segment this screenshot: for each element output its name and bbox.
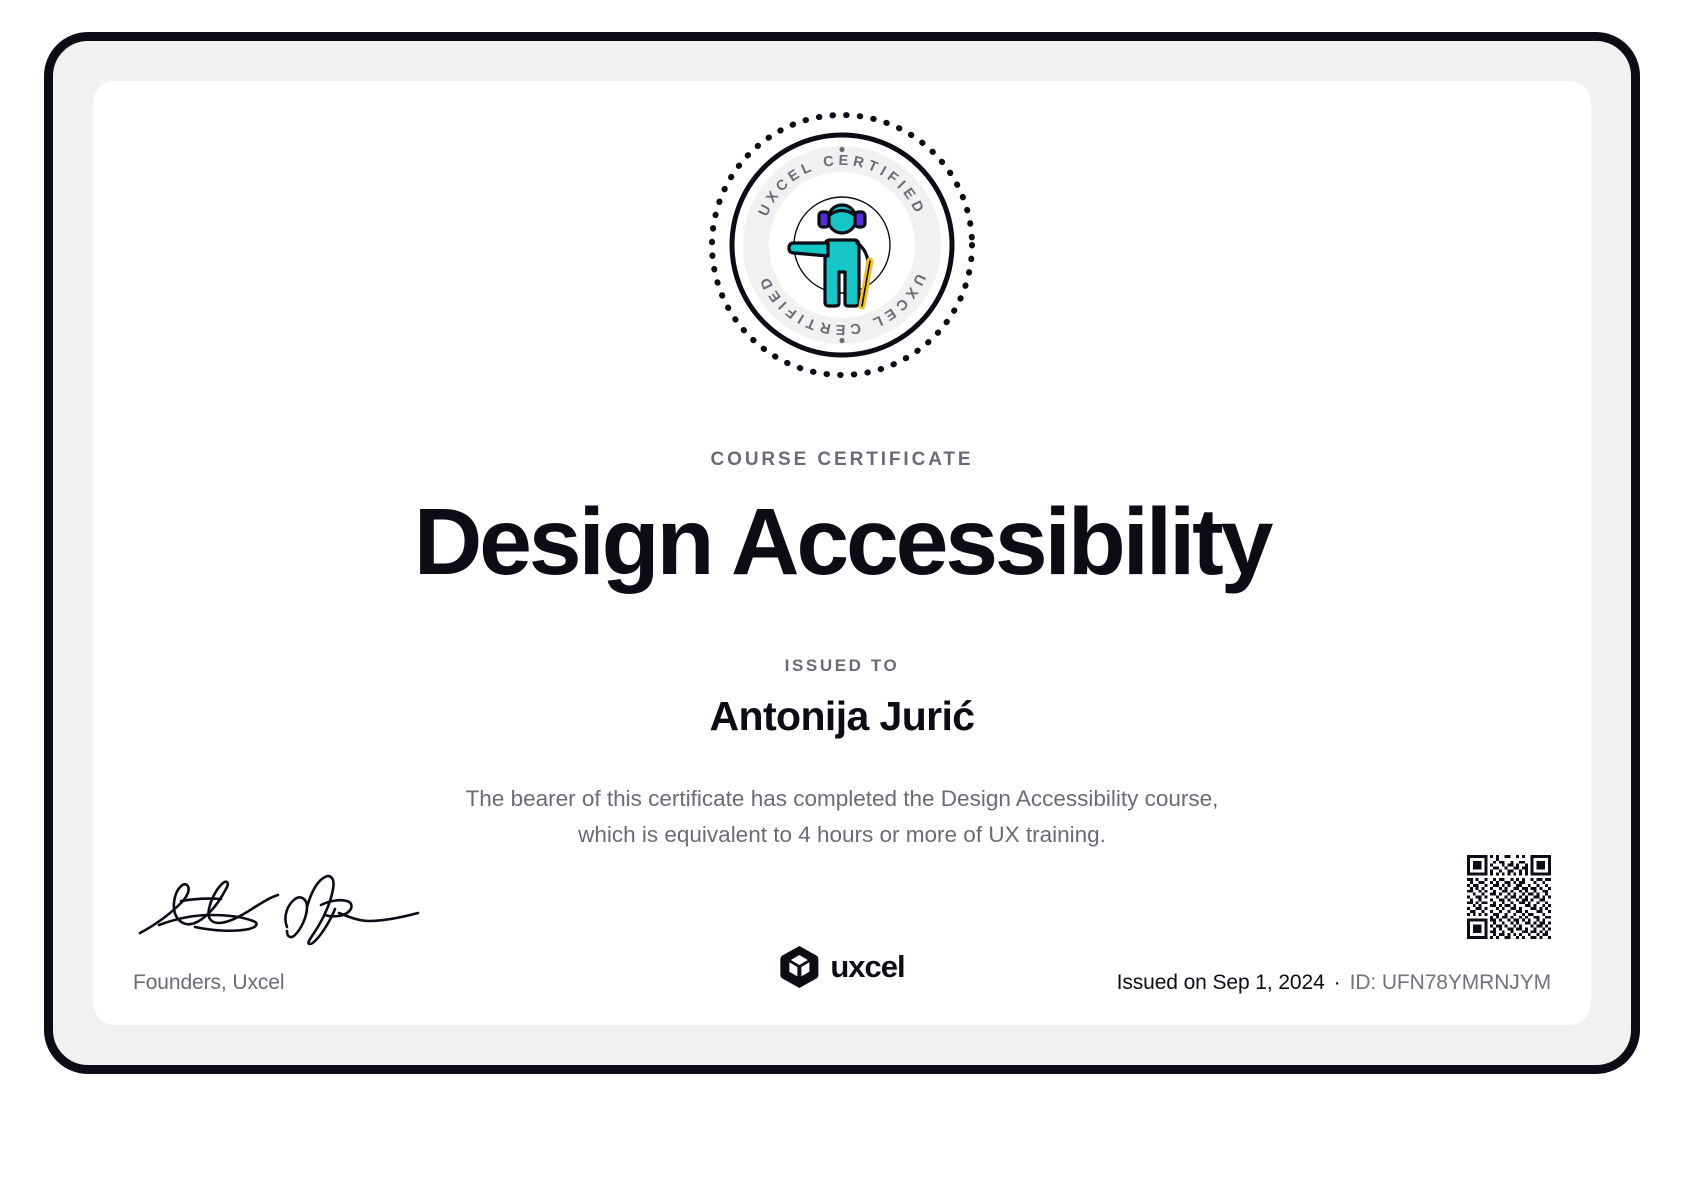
uxcel-brand-logo: uxcel [779, 945, 904, 989]
certificate-frame: UXCEL CERTIFIED UXCEL CERTIFIED [44, 32, 1640, 1074]
uxcel-wordmark: uxcel [830, 949, 904, 985]
certificate-meta-line: Issued on Sep 1, 2024·ID: UFN78YMRNJYM [1117, 971, 1551, 995]
certificate-eyebrow: COURSE CERTIFICATE [93, 449, 1591, 471]
description-line-2: which is equivalent to 4 hours or more o… [402, 817, 1282, 853]
issued-on-date: Issued on Sep 1, 2024 [1117, 971, 1325, 994]
certificate-title: Design Accessibility [93, 489, 1591, 595]
signature-block: Founders, Uxcel [133, 871, 473, 995]
meta-separator: · [1325, 971, 1350, 994]
founder-signatures-image [135, 871, 425, 951]
certificate-card: UXCEL CERTIFIED UXCEL CERTIFIED [93, 81, 1591, 1025]
signature-caption: Founders, Uxcel [133, 971, 473, 995]
recipient-name: Antonija Jurić [93, 693, 1591, 740]
qr-code[interactable] [1467, 855, 1551, 939]
certificate-description: The bearer of this certificate has compl… [402, 781, 1282, 854]
uxcel-cube-icon [779, 945, 819, 989]
issued-to-label: ISSUED TO [93, 656, 1591, 676]
uxcel-certified-seal: UXCEL CERTIFIED UXCEL CERTIFIED [706, 109, 978, 381]
certificate-id: ID: UFN78YMRNJYM [1350, 971, 1551, 994]
description-line-1: The bearer of this certificate has compl… [402, 781, 1282, 817]
certificate-meta-block: Issued on Sep 1, 2024·ID: UFN78YMRNJYM [1117, 855, 1551, 995]
